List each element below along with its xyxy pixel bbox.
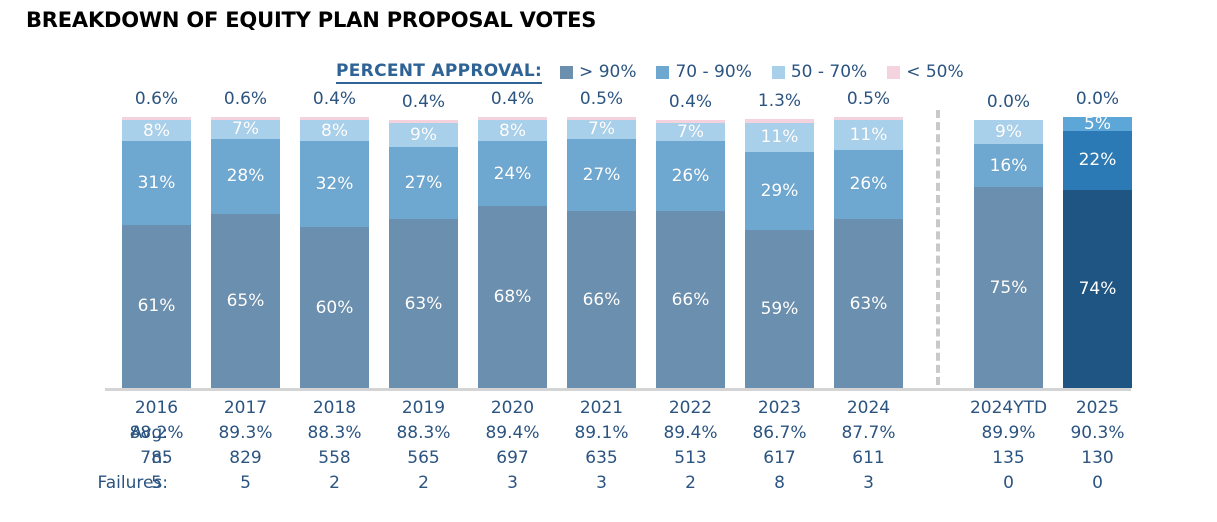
chart-root: BREAKDOWN OF EQUITY PLAN PROPOSAL VOTES … — [0, 0, 1217, 522]
failures-value: 3 — [478, 473, 547, 493]
bar-top-label-lt50: 0.6% — [211, 89, 280, 109]
legend: PERCENT APPROVAL: > 90% 70 - 90% 50 - 70… — [336, 60, 984, 84]
bar-top-label-lt50: 0.4% — [389, 92, 458, 112]
bar-segment-label: 11% — [761, 127, 799, 147]
failures-value: 5 — [211, 473, 280, 493]
n-value: 829 — [211, 448, 280, 468]
legend-item-50-70: 50 - 70% — [772, 62, 867, 82]
bar-segment-label: 75% — [990, 278, 1028, 298]
legend-swatch-70-90 — [656, 66, 669, 79]
bar-group: 1.3%11%29%59% — [745, 119, 814, 388]
avg-value: 90.3% — [1063, 423, 1132, 443]
bar-segment-label: 7% — [588, 119, 615, 139]
bar-segment-label: 27% — [583, 165, 621, 185]
legend-swatch-lt50 — [887, 66, 900, 79]
period-divider — [936, 110, 940, 385]
bar-segment-label: 8% — [143, 121, 170, 141]
avg-value: 88.2% — [122, 423, 191, 443]
bar-segment-label: 7% — [232, 119, 259, 139]
bar-group: 0.4%8%32%60% — [300, 117, 369, 388]
bar-group: 0.4%9%27%63% — [389, 120, 458, 388]
bar-group: 0.0%9%16%75% — [974, 120, 1043, 388]
legend-item-lt50: < 50% — [887, 62, 963, 82]
bar-segment-gt90: 74% — [1063, 190, 1132, 388]
bar-group: 0.4%8%24%68% — [478, 117, 547, 388]
n-value: 617 — [745, 448, 814, 468]
bar-segment-mid: 22% — [1063, 131, 1132, 190]
bar-segment-mid: 26% — [834, 150, 903, 220]
avg-value: 88.3% — [389, 423, 458, 443]
bar-segment-low: 7% — [656, 123, 725, 142]
bar-top-label-lt50: 0.4% — [300, 89, 369, 109]
bar-group: 0.0%5%22%74% — [1063, 117, 1132, 388]
bar-segment-label: 11% — [850, 125, 888, 145]
bar-segment-label: 66% — [672, 290, 710, 310]
bar-segment-mid: 27% — [567, 139, 636, 211]
category-label: 2018 — [300, 398, 369, 418]
bar-segment-label: 31% — [138, 173, 176, 193]
category-label: 2021 — [567, 398, 636, 418]
legend-label-70-90: 70 - 90% — [675, 62, 751, 82]
avg-value: 88.3% — [300, 423, 369, 443]
bar-segment-label: 26% — [850, 174, 888, 194]
bar-segment-label: 9% — [995, 122, 1022, 142]
failures-value: 2 — [389, 473, 458, 493]
bar-segment-label: 60% — [316, 298, 354, 318]
failures-value: 3 — [834, 473, 903, 493]
bar-group: 0.6%7%28%65% — [211, 117, 280, 388]
category-label: 2024YTD — [961, 398, 1056, 418]
bar-segment-low: 11% — [834, 120, 903, 149]
legend-label-lt50: < 50% — [906, 62, 963, 82]
bar-segment-mid: 16% — [974, 144, 1043, 187]
bar-segment-low: 5% — [1063, 117, 1132, 130]
bar-segment-low: 9% — [974, 120, 1043, 144]
bar-segment-label: 22% — [1079, 150, 1117, 170]
n-value: 697 — [478, 448, 547, 468]
bar-segment-gt90: 66% — [567, 211, 636, 388]
bar-segment-label: 8% — [499, 121, 526, 141]
bar-segment-label: 63% — [850, 294, 888, 314]
bar-top-label-lt50: 0.6% — [122, 89, 191, 109]
bar-group: 0.5%7%27%66% — [567, 117, 636, 388]
bar-segment-label: 24% — [494, 164, 532, 184]
n-value: 513 — [656, 448, 725, 468]
bar-segment-low: 7% — [567, 120, 636, 139]
bar-segment-label: 29% — [761, 181, 799, 201]
bar-top-label-lt50: 0.0% — [974, 92, 1043, 112]
bar-top-label-lt50: 0.5% — [834, 89, 903, 109]
legend-swatch-50-70 — [772, 66, 785, 79]
category-label: 2020 — [478, 398, 547, 418]
bar-segment-gt90: 68% — [478, 206, 547, 388]
bar-segment-label: 59% — [761, 299, 799, 319]
bar-segment-low: 9% — [389, 123, 458, 147]
category-label: 2016 — [122, 398, 191, 418]
avg-value: 89.4% — [478, 423, 547, 443]
n-value: 565 — [389, 448, 458, 468]
failures-value: 0 — [1063, 473, 1132, 493]
bar-segment-low: 8% — [122, 120, 191, 141]
failures-value: 2 — [656, 473, 725, 493]
bar-segment-mid: 26% — [656, 141, 725, 211]
legend-item-70-90: 70 - 90% — [656, 62, 751, 82]
bar-segment-gt90: 60% — [300, 227, 369, 388]
category-label: 2019 — [389, 398, 458, 418]
avg-value: 89.1% — [567, 423, 636, 443]
avg-value: 89.3% — [211, 423, 280, 443]
bar-segment-low: 8% — [478, 120, 547, 141]
bar-segment-label: 16% — [990, 156, 1028, 176]
avg-value: 87.7% — [834, 423, 903, 443]
category-label: 2025 — [1063, 398, 1132, 418]
avg-value: 89.9% — [961, 423, 1056, 443]
data-table: Avg:n:Failures:201688.2%7855201789.3%829… — [0, 398, 1217, 508]
bar-segment-low: 7% — [211, 120, 280, 139]
bar-segment-mid: 32% — [300, 141, 369, 227]
bar-top-label-lt50: 0.4% — [656, 92, 725, 112]
avg-value: 89.4% — [656, 423, 725, 443]
bar-segment-mid: 27% — [389, 147, 458, 219]
bar-segment-label: 74% — [1079, 279, 1117, 299]
bar-group: 0.6%8%31%61% — [122, 117, 191, 388]
n-value: 635 — [567, 448, 636, 468]
n-value: 611 — [834, 448, 903, 468]
bar-segment-label: 61% — [138, 296, 176, 316]
bar-segment-gt90: 65% — [211, 214, 280, 388]
bar-top-label-lt50: 1.3% — [745, 91, 814, 111]
bar-top-label-lt50: 0.0% — [1063, 89, 1132, 109]
bar-segment-label: 32% — [316, 174, 354, 194]
bar-group: 0.4%7%26%66% — [656, 120, 725, 388]
bar-segment-gt90: 61% — [122, 225, 191, 388]
bar-segment-gt90: 75% — [974, 187, 1043, 388]
n-value: 785 — [122, 448, 191, 468]
bar-group: 0.5%11%26%63% — [834, 117, 903, 388]
legend-label-50-70: 50 - 70% — [791, 62, 867, 82]
category-label: 2024 — [834, 398, 903, 418]
bar-segment-gt90: 63% — [834, 219, 903, 388]
legend-title: PERCENT APPROVAL: — [336, 61, 542, 84]
bar-segment-label: 7% — [677, 122, 704, 142]
bar-segment-gt90: 63% — [389, 219, 458, 388]
bar-segment-low: 11% — [745, 123, 814, 152]
avg-value: 86.7% — [745, 423, 814, 443]
legend-swatch-gt90 — [560, 66, 573, 79]
n-value: 130 — [1063, 448, 1132, 468]
bar-segment-label: 68% — [494, 287, 532, 307]
legend-item-gt90: > 90% — [560, 62, 636, 82]
failures-value: 5 — [122, 473, 191, 493]
failures-value: 8 — [745, 473, 814, 493]
category-label: 2023 — [745, 398, 814, 418]
bar-top-label-lt50: 0.4% — [478, 89, 547, 109]
bar-segment-label: 9% — [410, 125, 437, 145]
bar-segment-label: 27% — [405, 173, 443, 193]
bar-segment-low: 8% — [300, 120, 369, 141]
bar-segment-mid: 29% — [745, 152, 814, 230]
n-value: 558 — [300, 448, 369, 468]
bar-segment-mid: 31% — [122, 141, 191, 224]
bar-segment-mid: 28% — [211, 139, 280, 214]
bar-segment-mid: 24% — [478, 141, 547, 205]
category-label: 2022 — [656, 398, 725, 418]
bar-segment-label: 28% — [227, 166, 265, 186]
bar-segment-label: 66% — [583, 290, 621, 310]
bar-segment-label: 65% — [227, 291, 265, 311]
failures-value: 2 — [300, 473, 369, 493]
failures-value: 3 — [567, 473, 636, 493]
x-axis-line — [105, 388, 1131, 391]
bar-segment-label: 26% — [672, 166, 710, 186]
plot-area: 0.6%8%31%61%0.6%7%28%65%0.4%8%32%60%0.4%… — [0, 92, 1217, 392]
n-value: 135 — [961, 448, 1056, 468]
legend-label-gt90: > 90% — [579, 62, 636, 82]
bar-segment-gt90: 66% — [656, 211, 725, 388]
category-label: 2017 — [211, 398, 280, 418]
bar-segment-label: 63% — [405, 294, 443, 314]
bar-top-label-lt50: 0.5% — [567, 89, 636, 109]
page-title: BREAKDOWN OF EQUITY PLAN PROPOSAL VOTES — [26, 8, 596, 32]
bar-segment-gt90: 59% — [745, 230, 814, 388]
failures-value: 0 — [961, 473, 1056, 493]
bar-segment-label: 8% — [321, 121, 348, 141]
